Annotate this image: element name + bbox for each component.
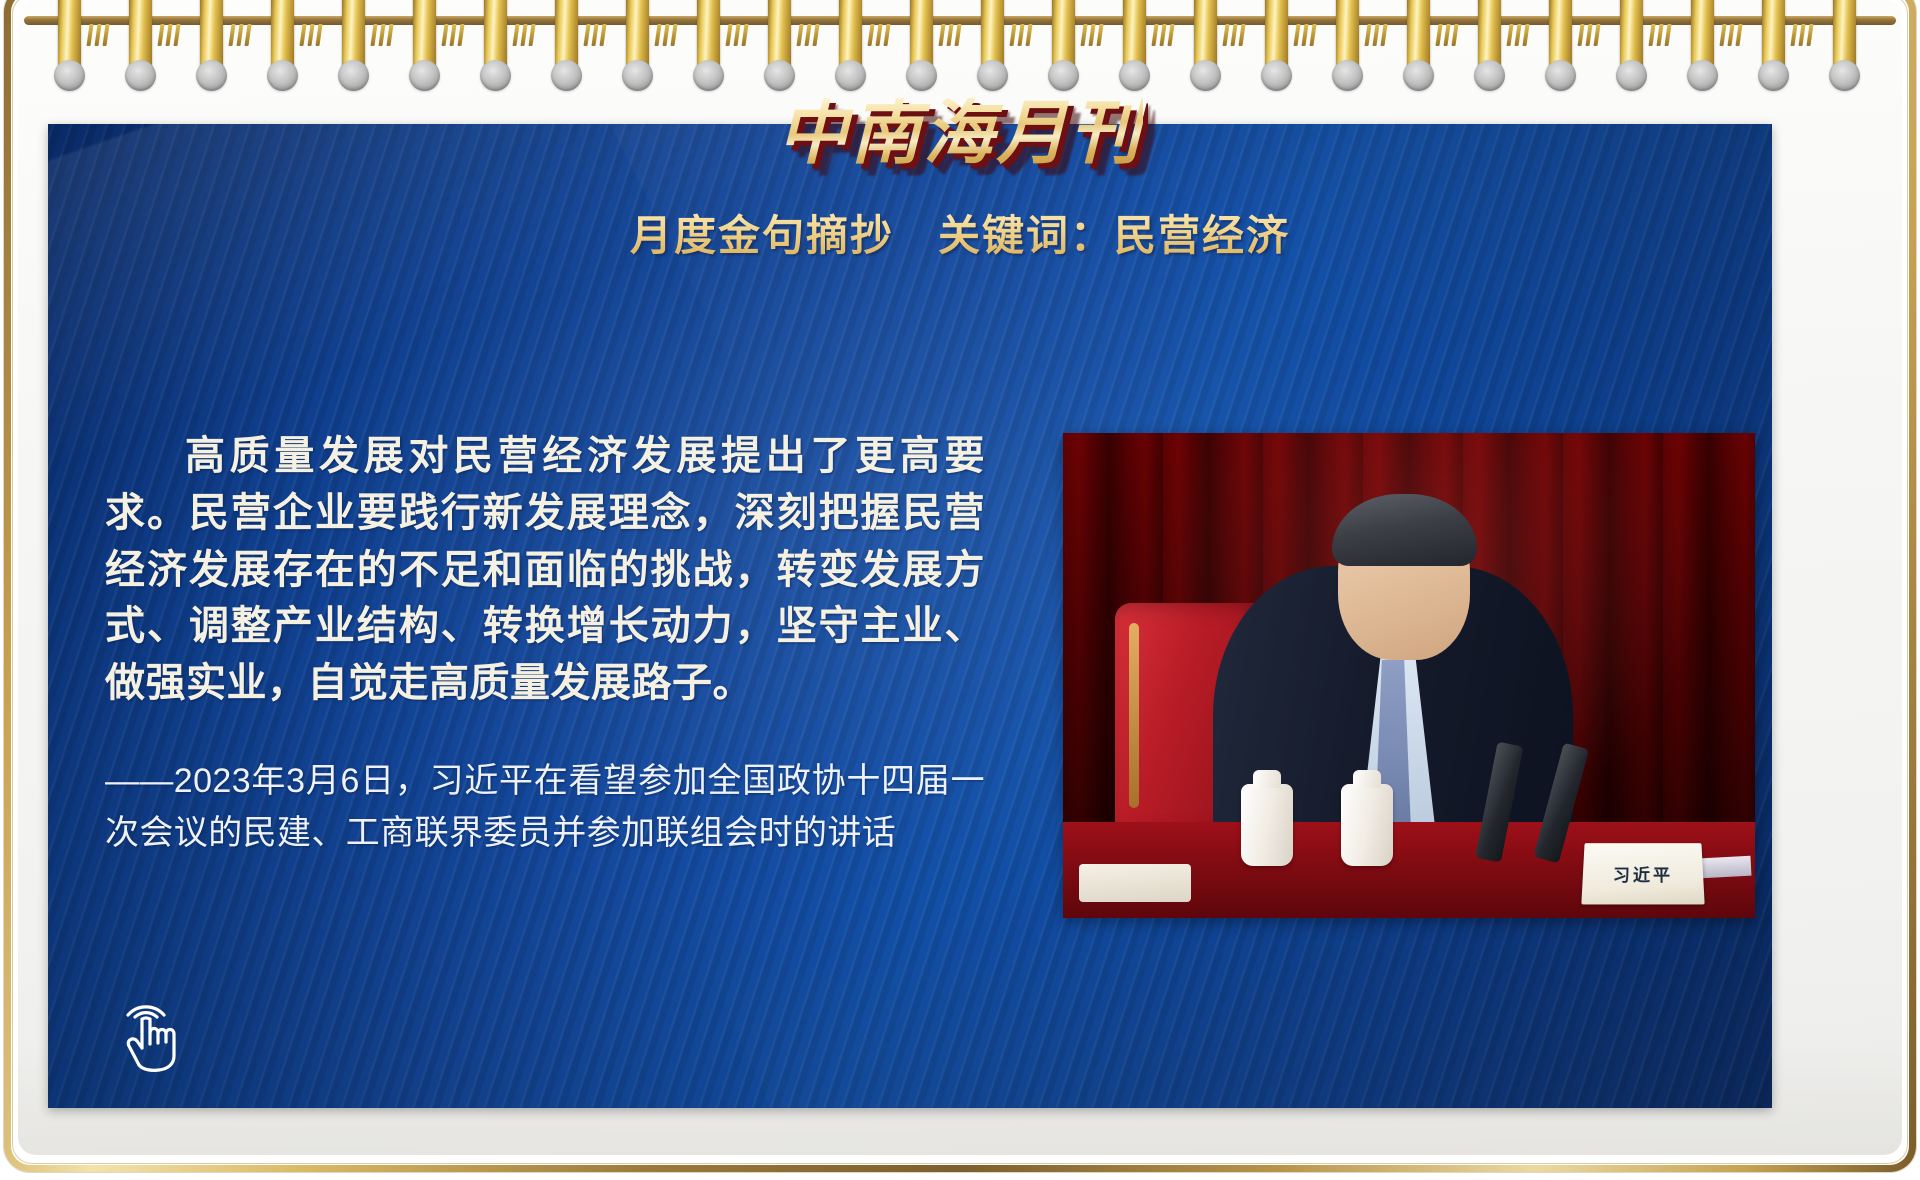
photo-nameplate-text: 习近平 [1613,861,1674,886]
page-title: 中南海月刊 [778,98,1143,168]
quote-column: 高质量发展对民营经济发展提出了更高要求。民营企业要践行新发展理念，深刻把握民营经… [105,428,985,859]
quote-attribution: ——2023年3月6日，习近平在看望参加全国政协十四届一次会议的民建、工商联界委… [105,756,985,859]
photo-nameplate: 习近平 [1581,843,1704,904]
photo-napkin [1079,864,1191,902]
photo-teacup-left [1241,784,1293,866]
photo-teacup-right [1341,784,1393,866]
leader-photo: 习近平 [1063,433,1755,918]
quote-text: 高质量发展对民营经济发展提出了更高要求。民营企业要践行新发展理念，深刻把握民营经… [105,428,985,712]
masthead-subtitle: 月度金句摘抄 关键词：民营经济 [0,202,1920,263]
page-root: 中南海月刊 月度金句摘抄 关键词：民营经济 高质量发展对民营经济发展提出了更高要… [0,0,1920,1180]
masthead: 中南海月刊 月度金句摘抄 关键词：民营经济 [0,98,1920,263]
tap-hand-icon[interactable] [112,986,188,1072]
